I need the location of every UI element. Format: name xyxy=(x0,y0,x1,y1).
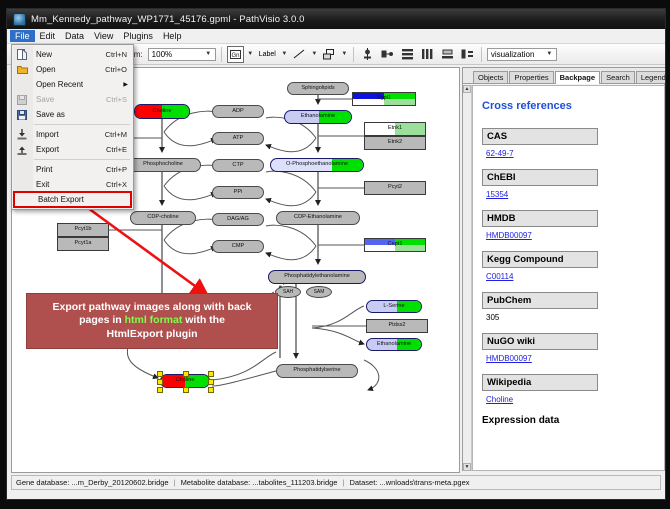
submenu-arrow-icon: ▶ xyxy=(123,81,133,88)
menu-plugins[interactable]: Plugins xyxy=(118,30,158,42)
datanode-dropdown-arrow-icon[interactable]: ▼ xyxy=(247,51,254,57)
xref-value-cas[interactable]: 62-49-7 xyxy=(486,149,655,158)
node-label: O-Phosphoethanolamine xyxy=(286,162,348,168)
tab-search[interactable]: Search xyxy=(601,71,635,83)
save-disk-icon xyxy=(12,92,32,107)
file-menu-divider-2 xyxy=(34,159,130,160)
selection-handle-w[interactable] xyxy=(157,379,163,385)
file-menu-item-new[interactable]: New Ctrl+N xyxy=(12,47,133,62)
node-label: Ethanolamine xyxy=(301,114,335,120)
group-icon[interactable] xyxy=(459,46,476,63)
scroll-up-arrow-icon[interactable]: ▲ xyxy=(463,85,471,93)
node-label: Etnk1 xyxy=(388,126,402,132)
menu-file[interactable]: File xyxy=(10,30,35,42)
distribute-vertical-icon[interactable] xyxy=(399,46,416,63)
pathway-node-sphingolipids[interactable]: Sphingolipids xyxy=(287,82,349,95)
title-bar: Mm_Kennedy_pathway_WP1771_45176.gpml - P… xyxy=(7,9,665,29)
file-menu-item-exit[interactable]: Exit Ctrl+X xyxy=(12,177,133,192)
selection-handle-nw[interactable] xyxy=(157,371,163,377)
annotation-highlight: html format xyxy=(125,314,183,326)
visualization-combobox[interactable]: visualization ▼ xyxy=(487,48,557,61)
annotation-line-2-pre: pages in xyxy=(79,314,125,326)
tab-backpage[interactable]: Backpage xyxy=(555,71,600,84)
file-menu-item-batch-export[interactable]: Batch Export xyxy=(14,192,131,207)
window-title: Mm_Kennedy_pathway_WP1771_45176.gpml - P… xyxy=(31,14,305,25)
stack-icon[interactable] xyxy=(439,46,456,63)
xref-source-chebi: ChEBI xyxy=(482,169,598,186)
backpage-content: Cross references CAS 62-49-7 ChEBI 15354… xyxy=(472,85,665,471)
file-menu-divider-1 xyxy=(34,124,130,125)
pathway-gene-etnk1[interactable]: Etnk1 xyxy=(364,122,426,136)
file-menu-item-print[interactable]: Print Ctrl+P xyxy=(12,162,133,177)
node-label: Sgpl1 xyxy=(377,96,391,102)
node-label: CTP xyxy=(232,163,243,169)
cross-references-title: Cross references xyxy=(482,100,655,112)
pathway-gene-ptdss2[interactable]: Ptdss2 xyxy=(366,319,428,333)
xref-source-pubchem: PubChem xyxy=(482,292,598,309)
tab-legend[interactable]: Legend xyxy=(636,71,666,83)
selection-handle-sw[interactable] xyxy=(157,387,163,393)
pathway-node-choline-top[interactable]: Choline xyxy=(134,104,190,119)
xref-value-wikipedia[interactable]: Choline xyxy=(486,395,655,404)
file-menu-item-export[interactable]: Export Ctrl+E xyxy=(12,142,133,157)
node-label: Ptdss2 xyxy=(388,323,405,329)
distribute-horizontal-icon[interactable] xyxy=(419,46,436,63)
pathvisio-app-icon xyxy=(13,13,26,26)
pathway-node-cdp-ethanolamine[interactable]: CDP-Ethanolamine xyxy=(276,211,360,225)
pathway-node-adp[interactable]: ADP xyxy=(212,105,264,118)
node-label: SAM xyxy=(314,290,325,295)
selection-handle-se[interactable] xyxy=(208,387,214,393)
xref-source-nugo-wiki: NuGO wiki xyxy=(482,333,598,350)
status-gene-database: Gene database: ...m_Derby_20120602.bridg… xyxy=(16,478,169,487)
new-document-icon xyxy=(12,47,32,62)
annotation-line-1: Export pathway images along with back xyxy=(53,301,252,314)
node-label: Phosphatidylserine xyxy=(293,368,340,374)
xref-source-kegg-compound: Kegg Compound xyxy=(482,251,598,268)
pathway-gene-cept1[interactable]: Cept1 xyxy=(364,238,426,252)
node-label: L-Serine xyxy=(383,304,404,310)
xref-value-hmdb[interactable]: HMDB00097 xyxy=(486,231,655,240)
xref-source-hmdb: HMDB xyxy=(482,210,598,227)
menu-edit[interactable]: Edit xyxy=(35,30,61,42)
node-label: CMP xyxy=(232,244,244,250)
align-middle-icon[interactable] xyxy=(379,46,396,63)
side-panel-tabs: Objects Properties Backpage Search Legen… xyxy=(463,68,666,84)
pathway-node-phosphocholine[interactable]: Phosphocholine xyxy=(125,158,201,172)
tab-properties[interactable]: Properties xyxy=(509,71,553,83)
node-label: Choline xyxy=(153,109,172,115)
line-dropdown-arrow-icon[interactable]: ▼ xyxy=(311,51,318,57)
selection-handle-ne[interactable] xyxy=(208,371,214,377)
toolbar-separator xyxy=(221,47,222,62)
pathway-gene-sgpl1[interactable]: Sgpl1 xyxy=(352,92,416,106)
node-label: CDP-Ethanolamine xyxy=(294,215,342,221)
node-label: Sphingolipids xyxy=(301,86,334,92)
pathway-node-sah-2[interactable]: SAH xyxy=(275,286,301,298)
file-menu-item-save-as[interactable]: Save as xyxy=(12,107,133,122)
node-label: Choline xyxy=(176,378,195,384)
menu-help[interactable]: Help xyxy=(158,30,187,42)
import-icon xyxy=(12,127,32,142)
side-panel: Objects Properties Backpage Search Legen… xyxy=(462,67,665,471)
label-dropdown-arrow-icon[interactable]: ▼ xyxy=(281,51,288,57)
menu-data[interactable]: Data xyxy=(60,30,89,42)
file-menu-item-open-recent[interactable]: Open Recent ▶ xyxy=(12,77,133,92)
zoom-combobox[interactable]: 100% ▼ xyxy=(148,48,216,61)
node-label: PPi xyxy=(234,190,243,196)
pathway-node-ctp[interactable]: CTP xyxy=(212,159,264,172)
pathway-node-phosphatidylethanolamine[interactable]: Phosphatidylethanolamine xyxy=(268,270,366,284)
pathway-node-ethanolamine-top[interactable]: Ethanolamine xyxy=(284,110,352,124)
expression-data-title: Expression data xyxy=(482,415,655,426)
chevron-down-icon: ▼ xyxy=(204,51,213,57)
xref-value-pubchem: 305 xyxy=(486,313,655,322)
screen-root: Mm_Kennedy_pathway_WP1771_45176.gpml - P… xyxy=(0,0,670,509)
pathway-node-sam-2[interactable]: SAM xyxy=(306,286,332,298)
open-folder-icon xyxy=(12,62,32,77)
xref-value-chebi[interactable]: 15354 xyxy=(486,190,655,199)
xref-source-wikipedia: Wikipedia xyxy=(482,374,598,391)
node-label: ADP xyxy=(232,109,244,115)
svg-text:Gn: Gn xyxy=(231,53,239,59)
menu-bar: File Edit Data View Plugins Help xyxy=(7,29,665,44)
annotation-line-2: pages in html format with the xyxy=(53,314,252,327)
status-bar: Gene database: ...m_Derby_20120602.bridg… xyxy=(11,475,661,490)
file-menu-dropdown[interactable]: New Ctrl+N Open Ctrl+O Open Recent ▶ Sav… xyxy=(11,44,134,210)
xref-value-kegg-compound[interactable]: C00114 xyxy=(486,272,655,281)
pathway-node-atp[interactable]: ATP xyxy=(212,132,264,145)
status-separator-2: | xyxy=(342,478,344,487)
node-label: ATP xyxy=(233,136,243,142)
status-dataset: Dataset: ...wnloads\trans-meta.pgex xyxy=(349,478,469,487)
shape-icon[interactable] xyxy=(321,46,338,63)
selection-handle-s[interactable] xyxy=(183,387,189,393)
pathway-gene-pcyt2[interactable]: Pcyt2 xyxy=(364,181,426,195)
xref-value-nugo-wiki[interactable]: HMDB00097 xyxy=(486,354,655,363)
node-label: Ethanolamine xyxy=(377,342,411,348)
tab-objects[interactable]: Objects xyxy=(473,71,508,83)
chevron-down-icon: ▼ xyxy=(545,51,554,57)
line-icon[interactable] xyxy=(291,46,308,63)
pathway-node-l-serine[interactable]: L-Serine xyxy=(366,300,422,313)
node-label: Phosphocholine xyxy=(143,162,183,168)
pathway-node-o-phosphoethanolamine[interactable]: O-Phosphoethanolamine xyxy=(270,158,364,172)
node-label: Etnk2 xyxy=(388,140,402,146)
xref-source-cas: CAS xyxy=(482,128,598,145)
pathway-gene-etnk2[interactable]: Etnk2 xyxy=(364,136,426,150)
selection-handle-n[interactable] xyxy=(183,371,189,377)
status-metabolite-database: Metabolite database: ...tabolites_111203… xyxy=(181,478,338,487)
annotation-banner: Export pathway images along with back pa… xyxy=(26,293,278,349)
node-label: Cept1 xyxy=(388,242,403,248)
node-label: SAH xyxy=(283,290,293,295)
node-label: Pcyt2 xyxy=(388,185,402,191)
selection-handle-e[interactable] xyxy=(208,379,214,385)
file-menu-item-import[interactable]: Import Ctrl+M xyxy=(12,127,133,142)
node-label: DAG/AG xyxy=(227,217,249,223)
pathway-node-phosphatidylserine[interactable]: Phosphatidylserine xyxy=(276,364,358,378)
pathvisio-window: Mm_Kennedy_pathway_WP1771_45176.gpml - P… xyxy=(6,8,666,500)
label-button[interactable]: Label xyxy=(257,51,278,58)
annotation-line-2-post: with the xyxy=(182,314,225,326)
save-as-disk-icon xyxy=(12,107,32,122)
file-menu-item-save: Save Ctrl+S xyxy=(12,92,133,107)
scroll-down-arrow-icon[interactable]: ▼ xyxy=(463,463,471,471)
side-panel-scrollbar[interactable]: ▲ ▼ xyxy=(463,85,472,471)
shape-dropdown-arrow-icon[interactable]: ▼ xyxy=(341,51,348,57)
file-menu-item-open[interactable]: Open Ctrl+O xyxy=(12,62,133,77)
export-icon xyxy=(12,142,32,157)
gene-datanode-icon[interactable]: Gn xyxy=(227,46,244,63)
toolbar-separator-2 xyxy=(353,47,354,62)
align-center-icon[interactable] xyxy=(359,46,376,63)
annotation-line-3: HtmlExport plugin xyxy=(53,328,252,341)
pathway-node-ethanolamine-bottom[interactable]: Ethanolamine xyxy=(366,338,422,351)
status-separator-1: | xyxy=(174,478,176,487)
node-label: Phosphatidylethanolamine xyxy=(284,274,350,280)
menu-view[interactable]: View xyxy=(89,30,118,42)
toolbar-separator-3 xyxy=(481,47,482,62)
